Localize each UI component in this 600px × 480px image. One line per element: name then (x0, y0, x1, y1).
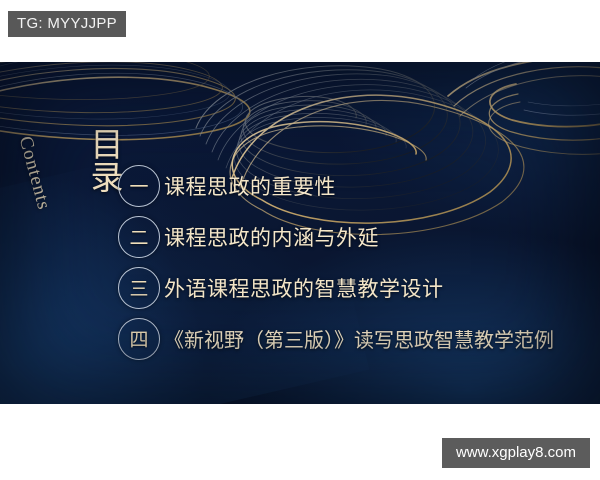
toc-item-2[interactable]: 二 课程思政的内涵与外延 (118, 211, 588, 262)
toc-marker-1: 一 (118, 165, 160, 207)
toc-label-3: 外语课程思政的智慧教学设计 (164, 273, 444, 303)
toc-item-3[interactable]: 三 外语课程思政的智慧教学设计 (118, 262, 588, 313)
toc-marker-3: 三 (118, 267, 160, 309)
table-of-contents: 一 课程思政的重要性 二 课程思政的内涵与外延 三 外语课程思政的智慧教学设计 … (118, 160, 588, 364)
slide-image: 目录 Contents 一 课程思政的重要性 二 课程思政的内涵与外延 三 外语… (0, 62, 600, 404)
toc-item-4[interactable]: 四 《新视野（第三版）》读写思政智慧教学范例 (118, 313, 588, 364)
toc-marker-2: 二 (118, 216, 160, 258)
toc-marker-4: 四 (118, 318, 160, 360)
toc-label-4: 《新视野（第三版）》读写思政智慧教学范例 (164, 324, 554, 353)
toc-label-2: 课程思政的内涵与外延 (164, 222, 379, 252)
site-watermark: www.xgplay8.com (442, 438, 590, 468)
toc-item-1[interactable]: 一 课程思政的重要性 (118, 160, 588, 211)
toc-label-1: 课程思政的重要性 (164, 171, 336, 201)
tg-watermark-badge: TG: MYYJJPP (8, 11, 126, 37)
